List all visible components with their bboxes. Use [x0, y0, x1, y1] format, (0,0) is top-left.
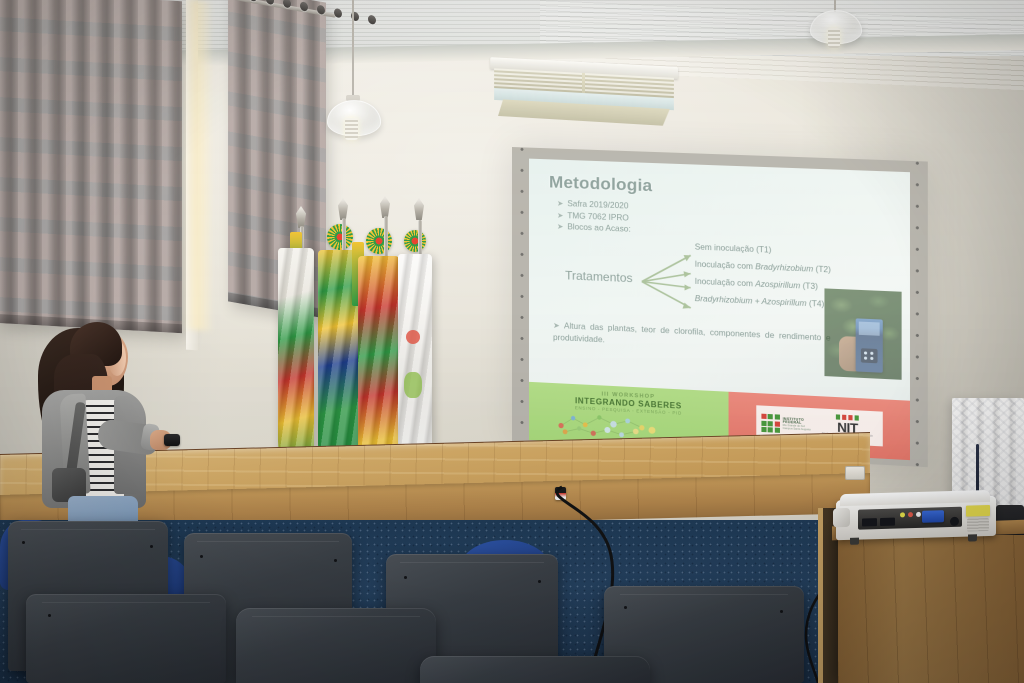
curtain-plaid-pattern	[0, 0, 182, 333]
wall-power-outlet	[845, 466, 865, 480]
projector-lens	[833, 508, 850, 527]
wooden-projector-table	[838, 535, 1024, 683]
vga-cable-connector	[922, 510, 944, 523]
treatments-arrow-fan-icon	[640, 247, 701, 316]
treatment-item: Bradyrhizobium + Azospirillum (T4)	[695, 295, 831, 309]
auditorium-presentation-scene: Metodologia ➤Safra 2019/2020 ➤TMG 7062 I…	[0, 0, 1024, 683]
bullet-arrow-icon: ➤	[557, 210, 563, 219]
slide-photo-chlorophyll-meter	[824, 288, 901, 379]
projector-port-panel	[858, 507, 962, 530]
treatments-list: Sem inoculação (T1) Inoculação com Brady…	[695, 243, 831, 318]
projector-sticker	[966, 505, 990, 517]
slide-content: Metodologia ➤Safra 2019/2020 ➤TMG 7062 I…	[529, 159, 910, 401]
projection-screen: Metodologia ➤Safra 2019/2020 ➤TMG 7062 I…	[512, 147, 928, 467]
auditorium-chair[interactable]	[420, 656, 650, 683]
flag-emblem-green	[404, 372, 422, 398]
projected-slide: Metodologia ➤Safra 2019/2020 ➤TMG 7062 I…	[529, 159, 910, 461]
projector-vent	[967, 518, 989, 532]
if-grid-icon	[761, 414, 780, 433]
bullet-arrow-icon: ➤	[557, 199, 563, 208]
video-projector	[836, 490, 996, 541]
presentation-clicker	[164, 434, 180, 446]
flag-emblem-red	[406, 330, 420, 344]
treatments-label: Tratamentos	[565, 268, 633, 285]
if-text: INSTITUTO FEDERAL Rio Grande do Sul Camp…	[783, 418, 818, 432]
instituto-federal-logo: INSTITUTO FEDERAL Rio Grande do Sul Camp…	[761, 414, 818, 435]
if-campus: Campus Santo Augusto	[783, 428, 818, 432]
window-light-glow	[183, 0, 211, 331]
auditorium-chair[interactable]	[26, 594, 226, 683]
air-conditioner	[488, 57, 680, 130]
auditorium-chair[interactable]	[236, 608, 436, 683]
treatment-item: Sem inoculação (T1)	[695, 243, 831, 257]
treatment-item: Inoculação com Bradyrhizobium (T2)	[695, 261, 831, 275]
table-grain	[838, 535, 1024, 683]
screen-grommets-left	[514, 147, 530, 446]
screen-grommets-right	[909, 161, 926, 467]
treatment-item: Inoculação com Azospirillum (T3)	[695, 278, 831, 292]
chlorophyll-meter-device	[856, 318, 883, 372]
bullet-arrow-icon: ➤	[557, 222, 563, 231]
stage-floor-connector	[555, 487, 566, 500]
bullet-arrow-icon: ➤	[553, 321, 560, 330]
window-curtain-left	[0, 0, 182, 333]
